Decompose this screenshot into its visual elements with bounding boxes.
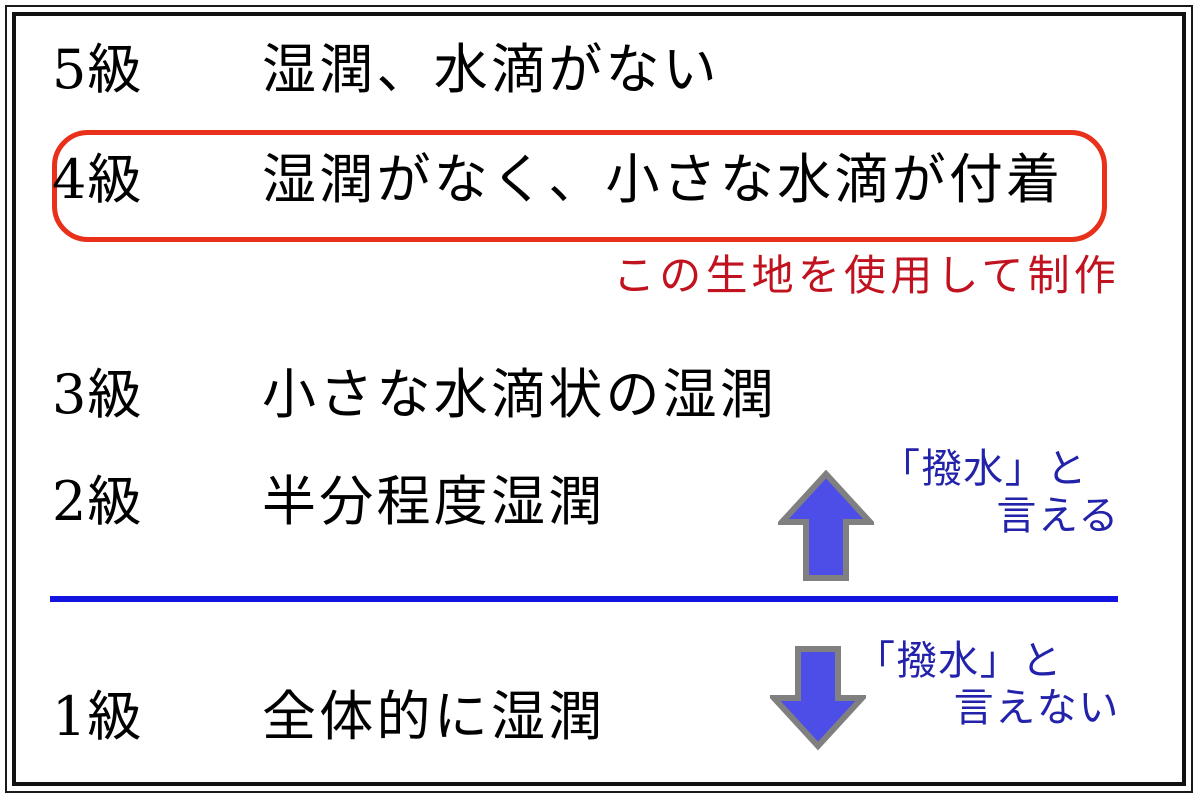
grade-label-5: 5級 bbox=[52, 40, 262, 99]
caption-repellent: 「撥水」と 言える bbox=[880, 446, 1120, 540]
grade-label-2: 2級 bbox=[52, 472, 262, 531]
grade-label-1: 1級 bbox=[52, 687, 262, 746]
grade-label-4: 4級 bbox=[52, 150, 262, 209]
water-repellency-grade-chart: 5級 湿潤、水滴がない 4級 湿潤がなく、小さな水滴が付着 この生地を使用して制… bbox=[0, 0, 1200, 800]
grade-row-3: 3級 小さな水滴状の湿潤 bbox=[52, 365, 777, 424]
grade-description-2: 半分程度湿潤 bbox=[262, 472, 605, 531]
grade-description-3: 小さな水滴状の湿潤 bbox=[262, 365, 777, 424]
caption-repellent-line-1: 「撥水」と bbox=[880, 446, 1120, 493]
arrow-up-icon bbox=[778, 470, 874, 582]
caption-not-repellent: 「撥水」と 言えない bbox=[855, 638, 1120, 732]
grade-row-2: 2級 半分程度湿潤 bbox=[52, 472, 605, 531]
grade-row-5: 5級 湿潤、水滴がない bbox=[52, 40, 720, 99]
grade-label-3: 3級 bbox=[52, 365, 262, 424]
grade-description-1: 全体的に湿潤 bbox=[262, 687, 605, 746]
repellency-threshold-divider bbox=[50, 596, 1118, 602]
grade-row-1: 1級 全体的に湿潤 bbox=[52, 687, 605, 746]
grade-description-4: 湿潤がなく、小さな水滴が付着 bbox=[262, 150, 1063, 209]
grade-description-5: 湿潤、水滴がない bbox=[262, 40, 720, 99]
caption-not-repellent-line-1: 「撥水」と bbox=[855, 638, 1120, 685]
caption-not-repellent-line-2: 言えない bbox=[855, 685, 1120, 732]
fabric-usage-annotation: この生地を使用して制作 bbox=[560, 252, 1120, 300]
caption-repellent-line-2: 言える bbox=[880, 493, 1120, 540]
grade-row-4: 4級 湿潤がなく、小さな水滴が付着 bbox=[52, 150, 1063, 209]
arrow-down-icon bbox=[770, 645, 866, 750]
